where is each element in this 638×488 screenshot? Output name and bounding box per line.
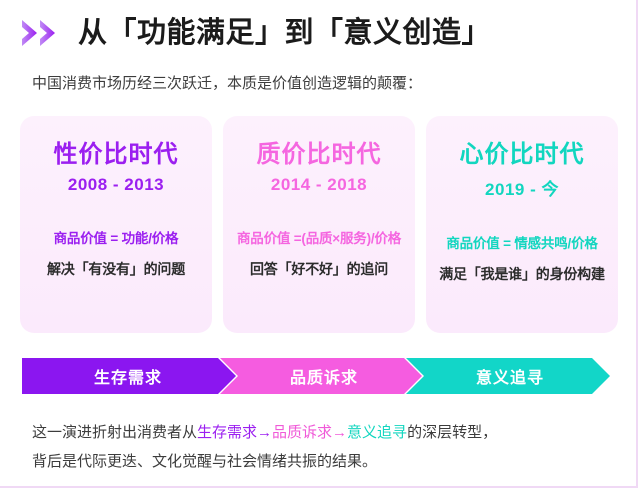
double-chevron-right-icon: [20, 18, 74, 48]
era-cards: 性价比时代 2008 - 2013 商品价值 = 功能/价格 解决「有没有」的问…: [20, 116, 618, 333]
ribbon-segment-1-shape: [22, 358, 236, 394]
footer-paragraph: 这一演进折射出消费者从生存需求→品质诉求→意义追寻的深层转型， 背后是代际更迭、…: [32, 418, 622, 477]
footer-suffix: 的深层转型，: [407, 424, 497, 441]
era-card-formula: 商品价值 =(品质×服务)/价格: [233, 227, 405, 247]
era-card-formula: 商品价值 = 功能/价格: [30, 227, 202, 247]
era-card-2[interactable]: 质价比时代 2014 - 2018 商品价值 =(品质×服务)/价格 回答「好不…: [223, 116, 415, 333]
footer-highlight-meaning: 意义追寻: [347, 424, 407, 441]
era-card-1[interactable]: 性价比时代 2008 - 2013 商品价值 = 功能/价格 解决「有没有」的问…: [20, 116, 212, 333]
era-card-description: 解决「有没有」的问题: [30, 259, 202, 279]
era-card-title: 心价比时代: [436, 142, 608, 168]
footer-highlight-quality: 品质诉求: [272, 424, 332, 441]
era-card-3[interactable]: 心价比时代 2019 - 今 商品价值 = 情感共鸣/价格 满足「我是谁」的身份…: [426, 116, 618, 333]
lead-paragraph: 中国消费市场历经三次跃迁，本质是价值创造逻辑的颠覆：: [32, 72, 612, 96]
era-card-title: 质价比时代: [233, 142, 405, 168]
era-card-description: 回答「好不好」的追问: [233, 259, 405, 279]
era-card-years: 2008 - 2013: [30, 175, 202, 195]
progression-ribbon: 生存需求 品质诉求 意义追寻: [22, 358, 610, 394]
page-title: 从「功能满足」到「意义创造」: [78, 19, 491, 48]
era-card-formula: 商品价值 = 情感共鸣/价格: [436, 232, 608, 252]
ribbon-segment-2-shape: [220, 358, 422, 394]
infographic-page: 从「功能满足」到「意义创造」 中国消费市场历经三次跃迁，本质是价值创造逻辑的颠覆…: [0, 0, 638, 488]
footer-line-2: 背后是代际更迭、文化觉醒与社会情绪共振的结果。: [32, 447, 622, 476]
era-card-description: 满足「我是谁」的身份构建: [436, 264, 608, 284]
footer-arrow-1: →: [257, 424, 272, 441]
footer-arrow-2: →: [332, 424, 347, 441]
footer-highlight-survival: 生存需求: [197, 424, 257, 441]
header: 从「功能满足」到「意义创造」: [0, 0, 638, 66]
ribbon-segment-3-shape: [406, 358, 610, 394]
era-card-years: 2019 - 今: [436, 175, 608, 200]
footer-prefix: 这一演进折射出消费者从: [32, 424, 197, 441]
era-card-title: 性价比时代: [30, 142, 202, 168]
era-card-years: 2014 - 2018: [233, 175, 405, 195]
footer-line-1: 这一演进折射出消费者从生存需求→品质诉求→意义追寻的深层转型，: [32, 418, 622, 447]
